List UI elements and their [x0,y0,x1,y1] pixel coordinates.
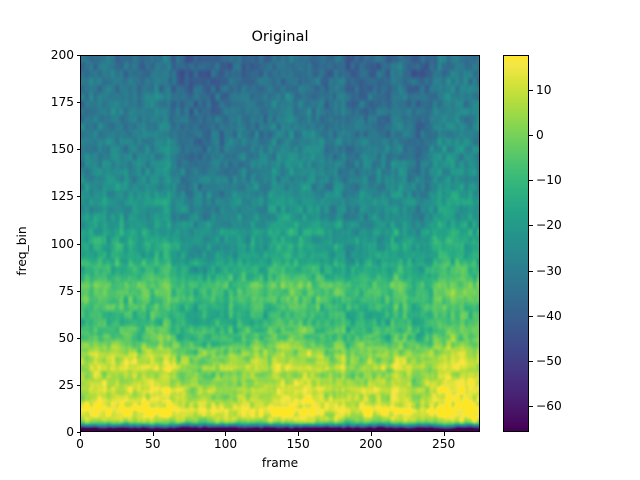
colorbar-tick-mark [529,316,533,317]
x-tick-mark [444,432,445,436]
y-tick-mark [77,55,81,56]
colorbar-tick-mark [529,180,533,181]
y-axis-label: freq_bin [15,191,29,311]
x-tick-mark [153,432,154,436]
y-tick-label: 125 [51,189,74,203]
x-tick-label: 50 [145,437,161,451]
x-tick-label: 100 [214,437,237,451]
y-tick-label: 200 [51,48,74,62]
colorbar-tick-label: −10 [536,173,562,187]
colorbar-tick-label: −40 [536,309,562,323]
y-tick-mark [77,244,81,245]
colorbar-tick-label: −50 [536,354,562,368]
colorbar [503,55,529,432]
y-tick-mark [77,149,81,150]
colorbar-tick-label: −30 [536,264,562,278]
colorbar-tick-label: 10 [536,83,552,97]
x-axis-label: frame [80,456,480,470]
x-tick-mark [80,432,81,436]
spectrogram-heatmap [81,56,479,431]
y-tick-label: 175 [51,95,74,109]
y-tick-label: 150 [51,142,74,156]
colorbar-tick-label: −60 [536,399,562,413]
y-tick-label: 100 [51,237,74,251]
y-tick-label: 50 [58,331,74,345]
chart-title: Original [80,28,480,45]
y-tick-mark [77,102,81,103]
y-tick-label: 25 [58,378,74,392]
y-tick-mark [77,338,81,339]
x-tick-label: 200 [359,437,382,451]
y-tick-label: 75 [58,284,74,298]
colorbar-tick-mark [529,361,533,362]
y-tick-label: 0 [66,425,74,439]
x-tick-mark [298,432,299,436]
spectrogram-axes [80,55,480,432]
x-tick-label: 150 [287,437,310,451]
matplotlib-figure: Original 0255075100125150175200 05010015… [0,0,640,480]
x-tick-mark [371,432,372,436]
y-tick-mark [77,385,81,386]
colorbar-tick-mark [529,406,533,407]
colorbar-tick-mark [529,90,533,91]
colorbar-tick-mark [529,271,533,272]
colorbar-tick-mark [529,225,533,226]
colorbar-tick-label: 0 [536,128,544,142]
colorbar-tick-mark [529,135,533,136]
colorbar-tick-label: −20 [536,218,562,232]
y-tick-mark [77,196,81,197]
colorbar-gradient [504,56,528,431]
x-tick-label: 250 [432,437,455,451]
x-tick-label: 0 [76,437,84,451]
x-tick-mark [225,432,226,436]
y-tick-mark [77,291,81,292]
